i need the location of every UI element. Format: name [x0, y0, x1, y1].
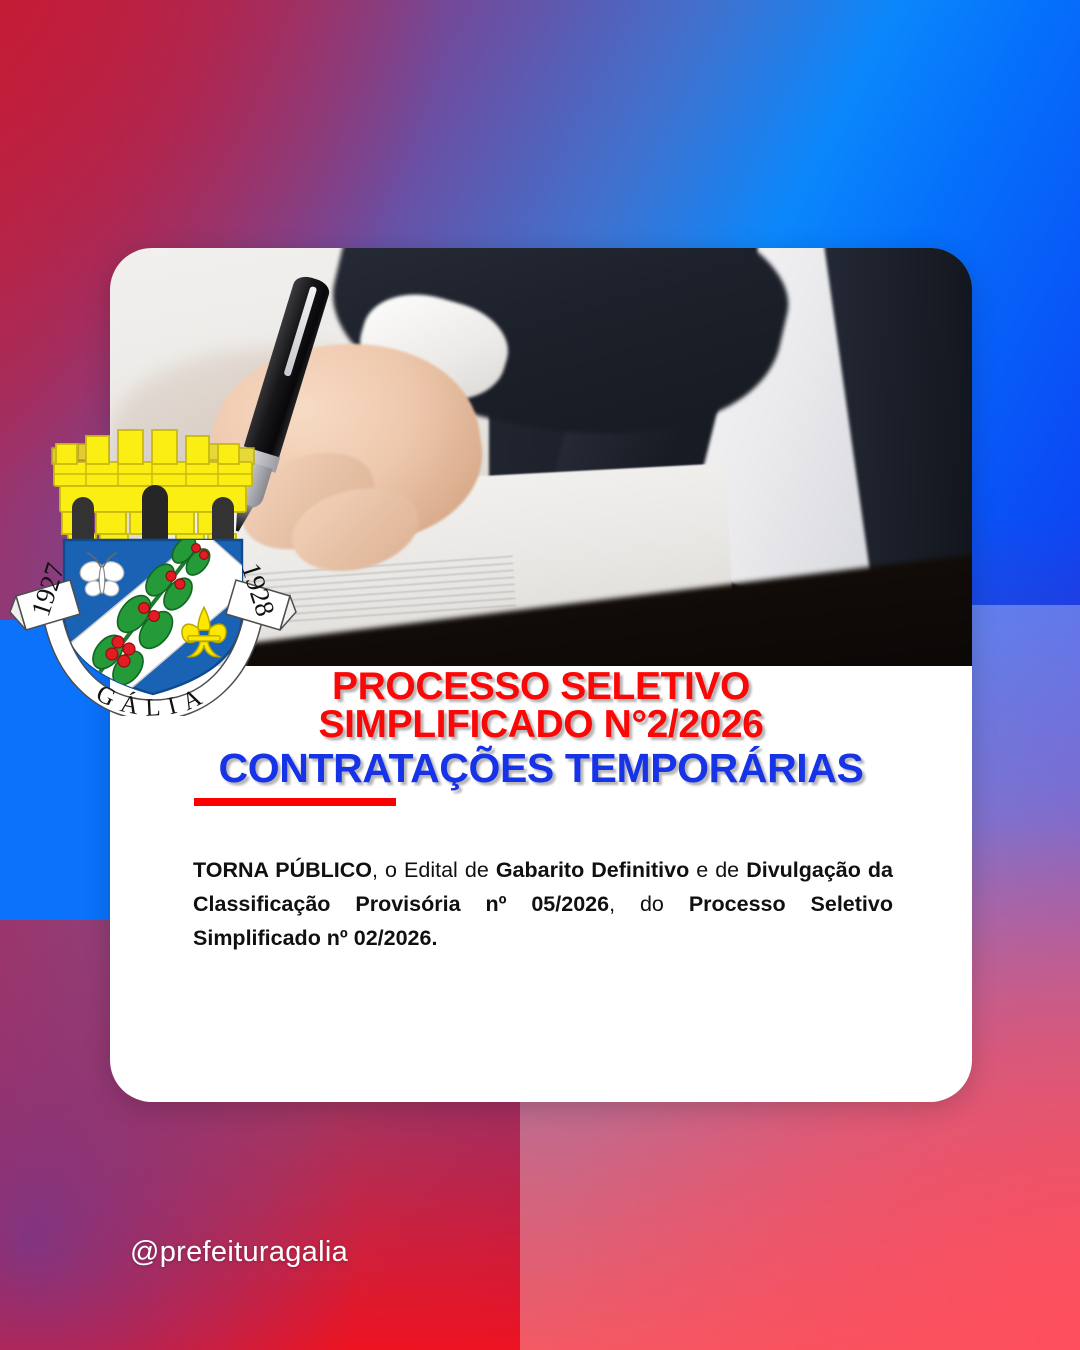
red-divider-rule	[194, 798, 396, 806]
announcement-text: TORNA PÚBLICO, o Edital de Gabarito Defi…	[193, 853, 893, 955]
text-segment-bold: Gabarito Definitivo	[496, 858, 689, 882]
text-segment: , do	[609, 892, 689, 916]
headline-line-3: CONTRATAÇÕES TEMPORÁRIAS	[110, 746, 972, 790]
text-segment-bold: TORNA PÚBLICO	[193, 858, 372, 882]
social-handle[interactable]: @prefeituragalia	[130, 1236, 348, 1269]
text-segment: , o Edital de	[372, 858, 496, 882]
mural-crown-icon	[52, 430, 254, 552]
social-post-canvas: PROCESSO SELETIVO SIMPLIFICADO N°2/2026 …	[0, 0, 1080, 1350]
coat-of-arms-icon: 1927 1928 GÁLIA	[8, 428, 298, 716]
text-segment: e de	[689, 858, 746, 882]
